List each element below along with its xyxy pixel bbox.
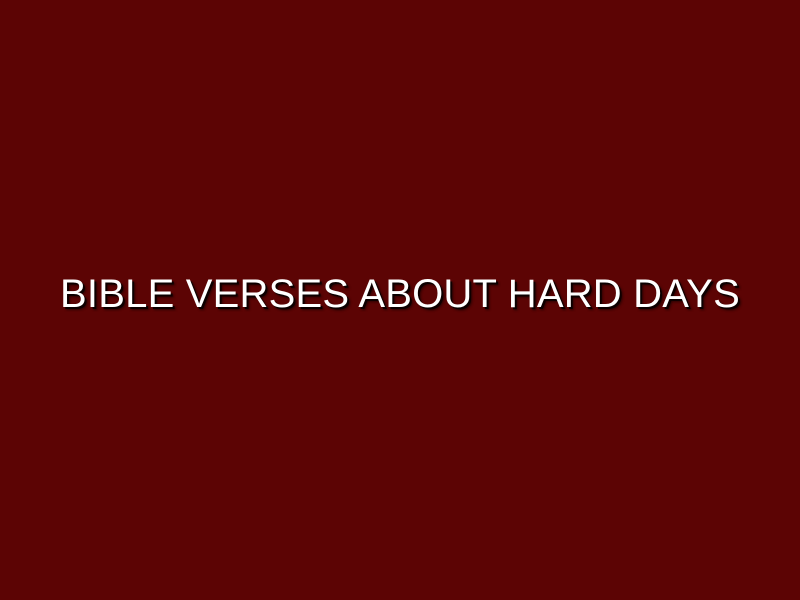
title-block: BIBLE VERSES ABOUT HARD DAYS [0,272,800,316]
featured-image-card: BIBLE VERSES ABOUT HARD DAYS [0,0,800,600]
page-title: BIBLE VERSES ABOUT HARD DAYS [60,272,740,316]
